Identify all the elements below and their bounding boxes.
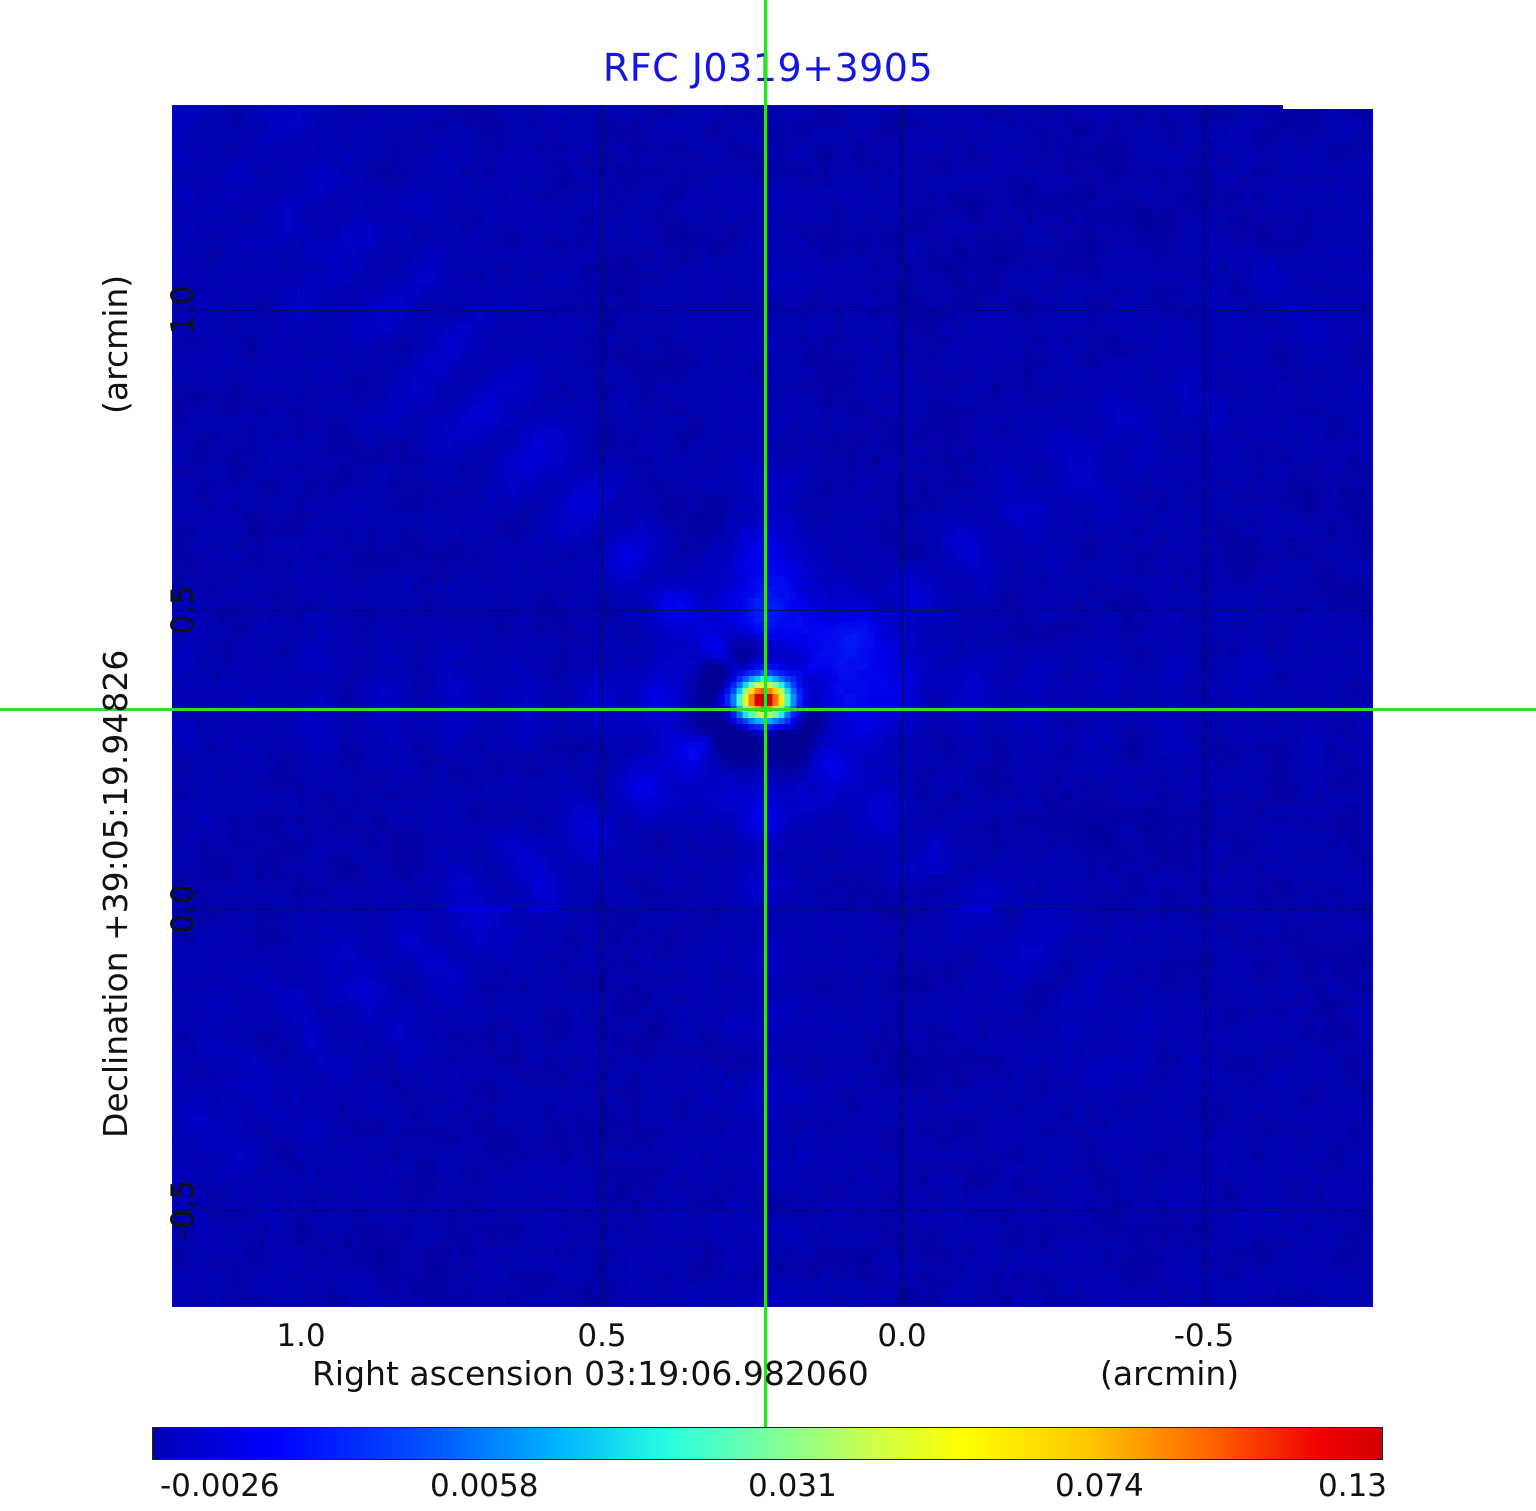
colorbar-tick-0: -0.0026 [160, 1468, 280, 1504]
radio-intensity-heatmap[interactable] [172, 105, 1373, 1307]
x-axis-label: Right ascension 03:19:06.982060 [312, 1354, 869, 1393]
colorbar-tick-2: 0.031 [748, 1468, 837, 1504]
crosshair-vertical-marker [764, 0, 767, 1452]
page-title: RFC J0319+3905 [0, 46, 1536, 90]
gridline-horizontal-0p0 [172, 909, 1373, 910]
ytick-label-2: 0.0 [165, 884, 201, 933]
xtick-label-1: 0.5 [577, 1318, 626, 1354]
sky-image-panel[interactable] [172, 105, 1373, 1307]
ytick-label-0: 1.0 [165, 285, 201, 334]
ytick-label-3: -0.5 [165, 1180, 201, 1241]
y-axis-units-label: (arcmin) [96, 275, 135, 414]
xtick-label-3: -0.5 [1174, 1318, 1235, 1354]
colorbar-tick-3: 0.074 [1055, 1468, 1144, 1504]
x-axis-units-label: (arcmin) [1100, 1354, 1239, 1393]
gridline-vertical-1p0 [301, 105, 302, 1307]
panel-top-notch [1283, 104, 1373, 109]
gridline-horizontal-0p5 [172, 610, 1373, 611]
gridline-vertical-0p0 [902, 105, 903, 1307]
gridline-horizontal-1p0 [172, 310, 1373, 311]
colorbar-tick-4: 0.13 [1318, 1468, 1387, 1504]
intensity-colorbar[interactable] [152, 1427, 1383, 1460]
gridline-vertical-m0p5 [1204, 105, 1205, 1307]
colorbar-tick-1: 0.0058 [430, 1468, 538, 1504]
y-axis-label: Declination +39:05:19.94826 [96, 650, 135, 1138]
gridline-horizontal-m0p5 [172, 1210, 1373, 1211]
crosshair-horizontal-marker [0, 708, 1536, 711]
gridline-vertical-0p5 [602, 105, 603, 1307]
ytick-label-1: 0.5 [165, 585, 201, 634]
xtick-label-0: 1.0 [276, 1318, 325, 1354]
xtick-label-2: 0.0 [877, 1318, 926, 1354]
